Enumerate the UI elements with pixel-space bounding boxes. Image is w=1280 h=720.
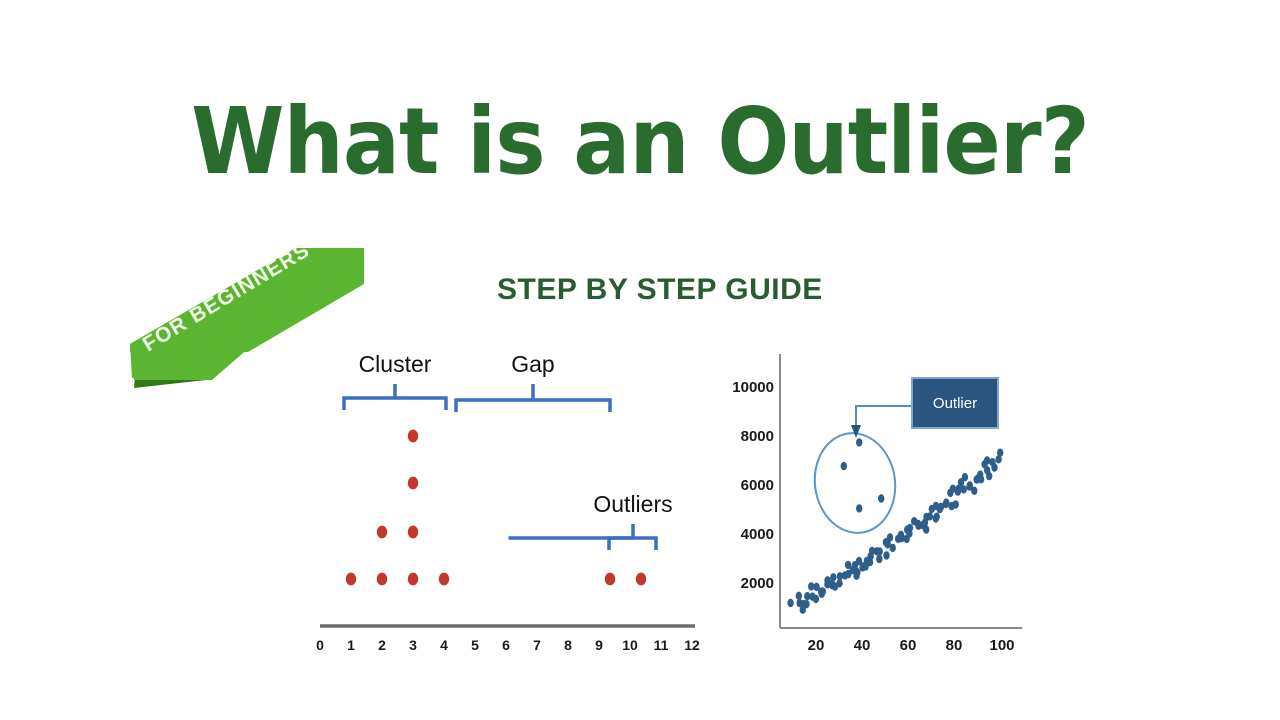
scatter-point — [890, 544, 896, 552]
scatter-y-ticks: 10000 8000 6000 4000 2000 — [732, 379, 774, 592]
scatter-point — [854, 568, 860, 576]
scatter-point — [923, 525, 929, 533]
tick-2: 2 — [378, 637, 386, 653]
subtitle: STEP BY STEP GUIDE — [497, 273, 823, 307]
dot — [408, 430, 418, 443]
scatter-point-outlier — [841, 462, 847, 470]
tick-4: 4 — [440, 637, 448, 653]
cluster-label: Cluster — [359, 351, 432, 377]
dot — [408, 526, 418, 539]
outlier-leader-line — [856, 406, 912, 428]
scatter-point — [984, 456, 990, 464]
dot-plot-axis-ticks: 0 1 2 3 4 5 6 7 8 9 10 11 12 — [316, 637, 700, 653]
outlier-callout-label: Outlier — [933, 395, 977, 412]
scatter-point — [796, 592, 802, 600]
dot — [408, 477, 418, 490]
scatter-point — [955, 487, 961, 495]
dot-outlier — [636, 573, 646, 586]
tick-10: 10 — [622, 637, 638, 653]
y-tick-2000: 2000 — [741, 575, 774, 592]
gap-label: Gap — [511, 351, 554, 377]
scatter-point — [898, 531, 904, 539]
y-tick-6000: 6000 — [741, 477, 774, 494]
y-tick-8000: 8000 — [741, 428, 774, 445]
tick-11: 11 — [654, 637, 669, 653]
page-title: What is an Outlier? — [51, 96, 1229, 188]
scatter-point — [876, 555, 882, 563]
tick-0: 0 — [316, 637, 324, 653]
dot — [377, 573, 387, 586]
scatter-point-outlier — [856, 438, 862, 446]
tick-1: 1 — [347, 637, 355, 653]
scatter-svg: 10000 8000 6000 4000 2000 20 40 60 80 10… — [722, 342, 1042, 672]
outlier-arrowhead — [851, 425, 861, 438]
outliers-bracket — [509, 524, 657, 550]
scatter-point — [997, 449, 1003, 457]
scatter-point — [971, 487, 977, 495]
tick-12: 12 — [684, 637, 700, 653]
scatter-point — [877, 547, 883, 555]
scatter-point — [836, 579, 842, 587]
cluster-bracket — [344, 384, 446, 410]
tick-7: 7 — [533, 637, 541, 653]
dot-plot-svg: Cluster Gap Outliers — [300, 330, 720, 670]
dot — [408, 573, 418, 586]
dot — [346, 573, 356, 586]
scatter-x-ticks: 20 40 60 80 100 — [808, 637, 1015, 654]
scatter-point-outlier — [878, 494, 884, 502]
scatter-point — [978, 475, 984, 483]
tick-5: 5 — [471, 637, 479, 653]
tick-3: 3 — [409, 637, 417, 653]
outlier-scatter-figure: 10000 8000 6000 4000 2000 20 40 60 80 10… — [722, 342, 1042, 672]
x-tick-80: 80 — [946, 637, 963, 654]
dot — [439, 573, 449, 586]
slide-canvas: What is an Outlier? STEP BY STEP GUIDE F… — [0, 0, 1280, 720]
x-tick-40: 40 — [854, 637, 871, 654]
scatter-points — [787, 438, 1003, 614]
scatter-point — [986, 472, 992, 480]
scatter-point — [820, 587, 826, 595]
tick-6: 6 — [502, 637, 510, 653]
x-tick-100: 100 — [989, 637, 1014, 654]
scatter-point — [813, 595, 819, 603]
outliers-label: Outliers — [593, 491, 672, 517]
gap-bracket — [456, 384, 610, 412]
outlier-highlight-ellipse — [808, 428, 901, 538]
scatter-point — [933, 514, 939, 522]
scatter-point — [962, 473, 968, 481]
x-tick-20: 20 — [808, 637, 825, 654]
scatter-point — [787, 599, 793, 607]
y-tick-4000: 4000 — [741, 526, 774, 543]
dot-plot-figure: Cluster Gap Outliers — [300, 330, 720, 670]
scatter-point — [906, 529, 912, 537]
scatter-point — [887, 533, 893, 541]
x-tick-60: 60 — [900, 637, 917, 654]
dot-outlier — [605, 573, 615, 586]
scatter-point — [991, 463, 997, 471]
scatter-point — [803, 600, 809, 608]
scatter-point — [883, 551, 889, 559]
tick-9: 9 — [595, 637, 603, 653]
scatter-point — [961, 485, 967, 493]
tick-8: 8 — [564, 637, 572, 653]
scatter-point-outlier — [856, 504, 862, 512]
scatter-point — [953, 500, 959, 508]
y-tick-10000: 10000 — [732, 379, 774, 396]
scatter-point — [830, 573, 836, 581]
scatter-point — [927, 512, 933, 520]
dot — [377, 526, 387, 539]
